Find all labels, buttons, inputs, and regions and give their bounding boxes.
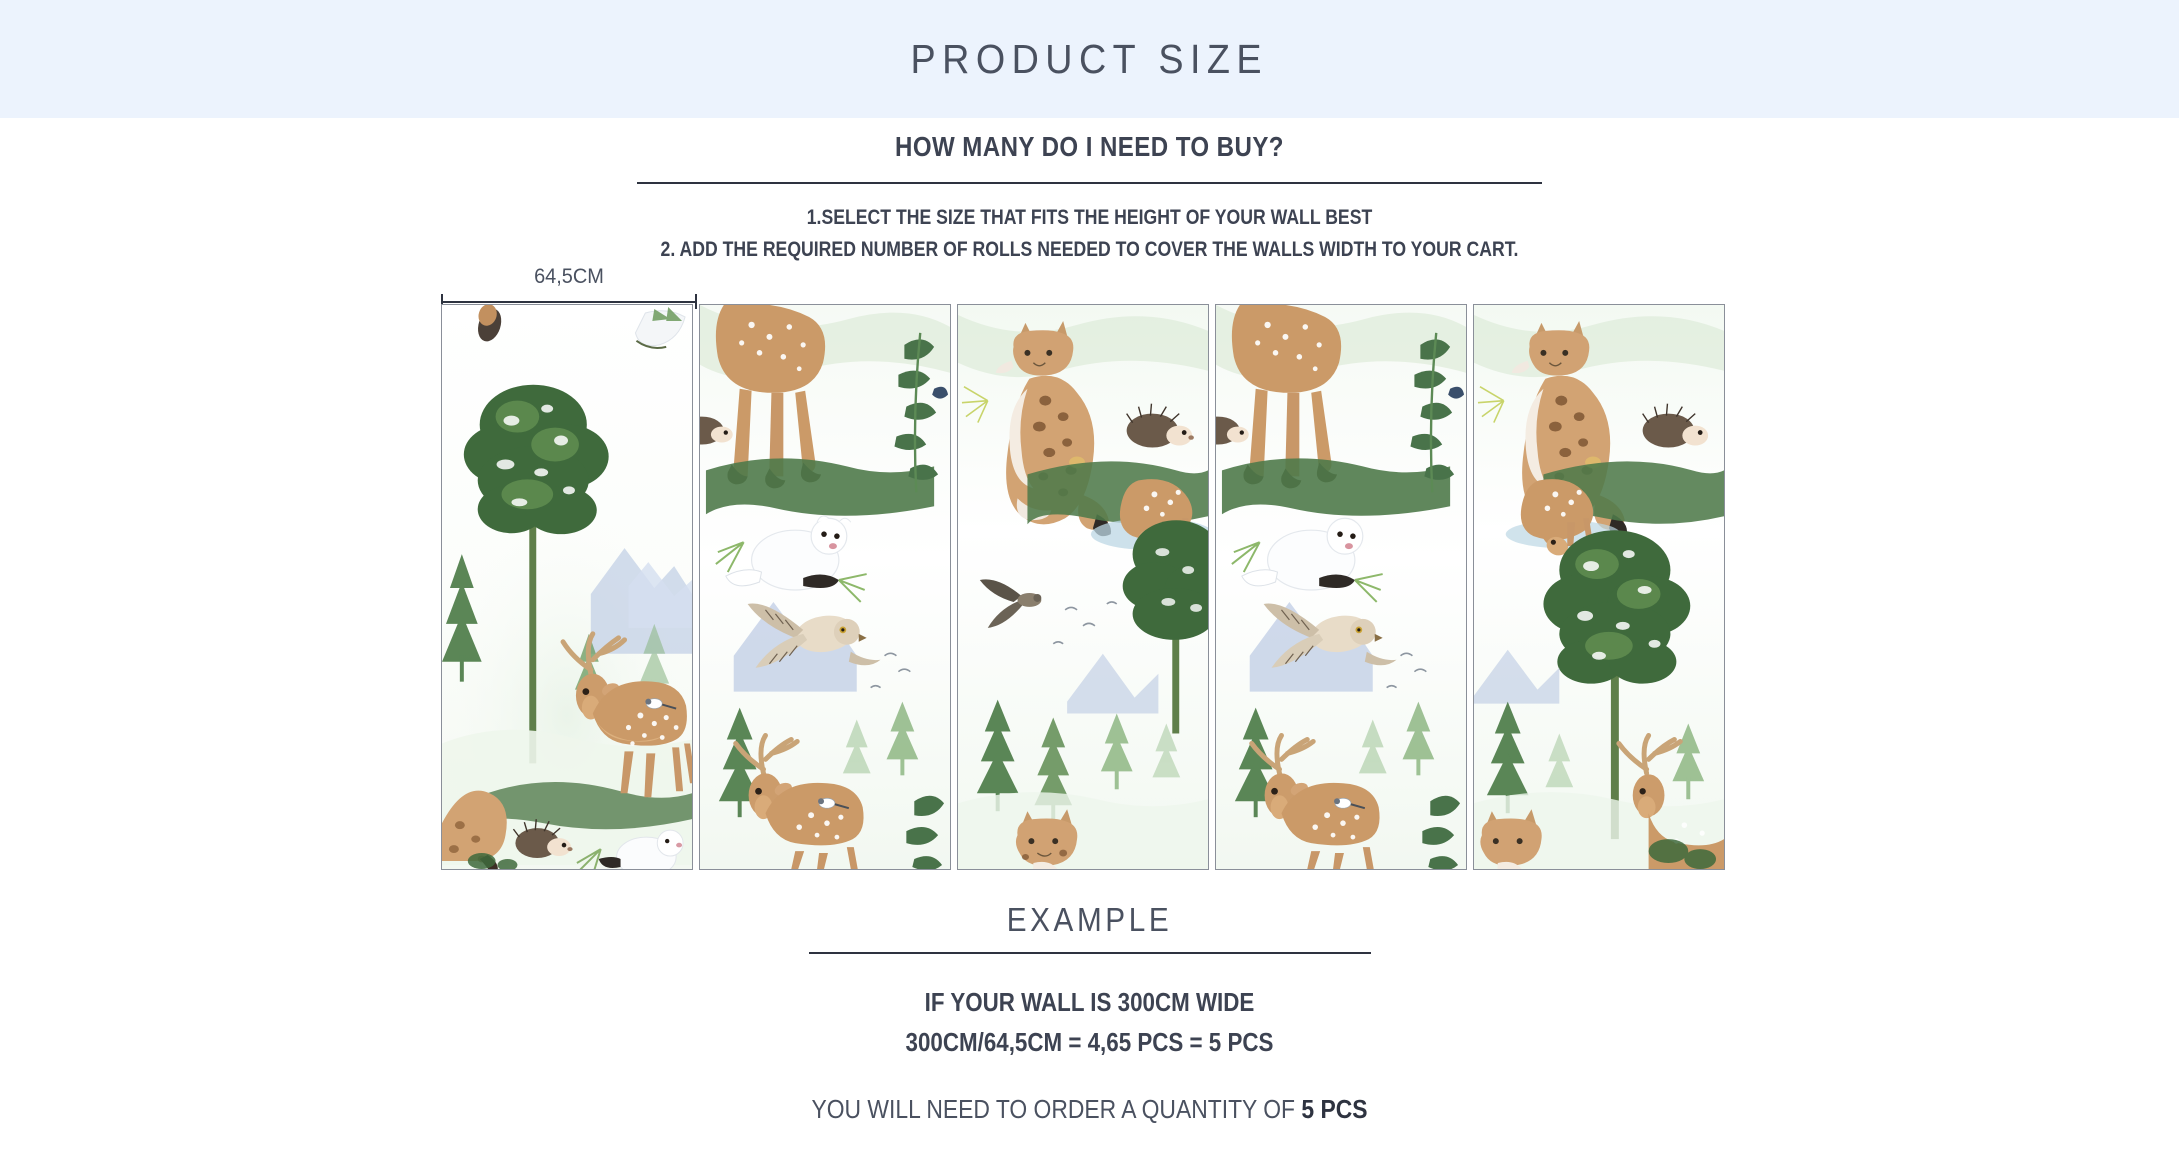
measurement-line <box>441 301 697 303</box>
wallpaper-art-4 <box>1216 305 1466 869</box>
example-calculation: IF YOUR WALL IS 300CM WIDE 300CM/64,5CM … <box>0 982 2179 1062</box>
roll-width-label: 64,5CM <box>447 265 690 289</box>
page-header: PRODUCT SIZE <box>0 0 2179 118</box>
example-divider <box>809 952 1371 954</box>
wallpaper-panel-row <box>441 304 1734 870</box>
intro-divider <box>637 182 1542 184</box>
intro-section: HOW MANY DO I NEED TO BUY? 1.SELECT THE … <box>0 128 2179 266</box>
wallpaper-panel-1[interactable] <box>441 304 693 870</box>
wallpaper-art-2 <box>700 305 950 869</box>
intro-heading: HOW MANY DO I NEED TO BUY? <box>153 128 2027 166</box>
example-wall-width: IF YOUR WALL IS 300CM WIDE <box>153 982 2027 1022</box>
example-heading: EXAMPLE <box>109 900 2070 940</box>
example-conclusion: YOU WILL NEED TO ORDER A QUANTITY OF 5 P… <box>131 1090 2049 1128</box>
wallpaper-panel-3[interactable] <box>957 304 1209 870</box>
wallpaper-art-3 <box>958 305 1208 869</box>
intro-steps: 1.SELECT THE SIZE THAT FITS THE HEIGHT O… <box>0 202 2179 266</box>
example-conclusion-prefix: YOU WILL NEED TO ORDER A QUANTITY OF <box>811 1094 1301 1124</box>
example-section: EXAMPLE IF YOUR WALL IS 300CM WIDE 300CM… <box>0 900 2179 1128</box>
intro-step-1: 1.SELECT THE SIZE THAT FITS THE HEIGHT O… <box>174 202 2004 234</box>
page-title: PRODUCT SIZE <box>911 36 1268 83</box>
wallpaper-panel-4[interactable] <box>1215 304 1467 870</box>
wallpaper-art-1 <box>442 305 692 869</box>
roll-width-measurement: 64,5CM <box>441 265 697 308</box>
wallpaper-panel-5[interactable] <box>1473 304 1725 870</box>
intro-step-2: 2. ADD THE REQUIRED NUMBER OF ROLLS NEED… <box>174 234 2004 266</box>
example-formula: 300CM/64,5CM = 4,65 PCS = 5 PCS <box>153 1022 2027 1062</box>
wallpaper-art-5 <box>1474 305 1724 869</box>
wallpaper-panel-2[interactable] <box>699 304 951 870</box>
example-conclusion-quantity: 5 PCS <box>1301 1094 1367 1124</box>
